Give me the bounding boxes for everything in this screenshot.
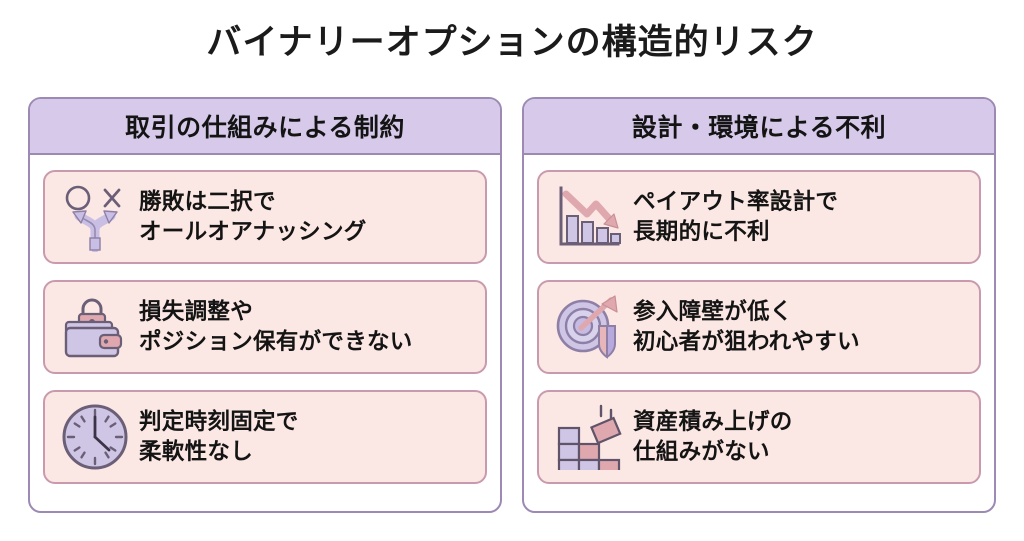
falling-blocks-icon — [553, 401, 625, 473]
panel-left-body: 勝敗は二択で オールオアナッシング — [30, 155, 500, 511]
card-right-1-line1: ペイアウト率設計で — [633, 189, 838, 215]
columns-container: 取引の仕組みによる制約 — [28, 97, 996, 513]
panel-right: 設計・環境による不利 — [522, 97, 996, 513]
card-right-3-line2: 仕組みがない — [633, 437, 793, 467]
panel-right-body: ペイアウト率設計で 長期的に不利 — [524, 155, 994, 511]
card-right-1-line2: 長期的に不利 — [633, 217, 838, 247]
card-right-3-line1: 資産積み上げの — [633, 409, 793, 435]
card-right-2-line1: 参入障壁が低く — [633, 299, 793, 325]
card-right-3[interactable]: 資産積み上げの 仕組みがない — [537, 390, 981, 484]
card-left-2-text: 損失調整や ポジション保有ができない — [139, 297, 413, 357]
card-right-1[interactable]: ペイアウト率設計で 長期的に不利 — [537, 170, 981, 264]
card-right-2-line2: 初心者が狙われやすい — [633, 327, 860, 357]
infographic-poster: バイナリーオプションの構造的リスク 取引の仕組みによる制約 — [0, 0, 1024, 541]
card-left-2[interactable]: 損失調整や ポジション保有ができない — [43, 280, 487, 374]
locked-wallet-icon — [59, 291, 131, 363]
target-arrow-shield-icon — [553, 291, 625, 363]
page-title: バイナリーオプションの構造的リスク — [0, 22, 1024, 64]
fork-arrow-circle-cross-icon — [59, 181, 131, 253]
card-left-3[interactable]: 判定時刻固定で 柔軟性なし — [43, 390, 487, 484]
panel-left: 取引の仕組みによる制約 — [28, 97, 502, 513]
card-left-1-line2: オールオアナッシング — [139, 217, 367, 247]
card-left-1[interactable]: 勝敗は二択で オールオアナッシング — [43, 170, 487, 264]
card-right-2[interactable]: 参入障壁が低く 初心者が狙われやすい — [537, 280, 981, 374]
panel-right-header: 設計・環境による不利 — [524, 99, 994, 155]
card-right-3-text: 資産積み上げの 仕組みがない — [633, 407, 793, 467]
clock-icon — [59, 401, 131, 473]
card-right-1-text: ペイアウト率設計で 長期的に不利 — [633, 187, 838, 247]
card-left-3-line1: 判定時刻固定で — [139, 409, 299, 435]
card-left-1-text: 勝敗は二択で オールオアナッシング — [139, 187, 367, 247]
card-left-1-line1: 勝敗は二択で — [139, 189, 276, 215]
card-right-2-text: 参入障壁が低く 初心者が狙われやすい — [633, 297, 860, 357]
card-left-3-text: 判定時刻固定で 柔軟性なし — [139, 407, 299, 467]
declining-bar-chart-icon — [553, 181, 625, 253]
card-left-2-line2: ポジション保有ができない — [139, 327, 413, 357]
panel-left-header: 取引の仕組みによる制約 — [30, 99, 500, 155]
card-left-3-line2: 柔軟性なし — [139, 437, 299, 467]
card-left-2-line1: 損失調整や — [139, 299, 253, 325]
